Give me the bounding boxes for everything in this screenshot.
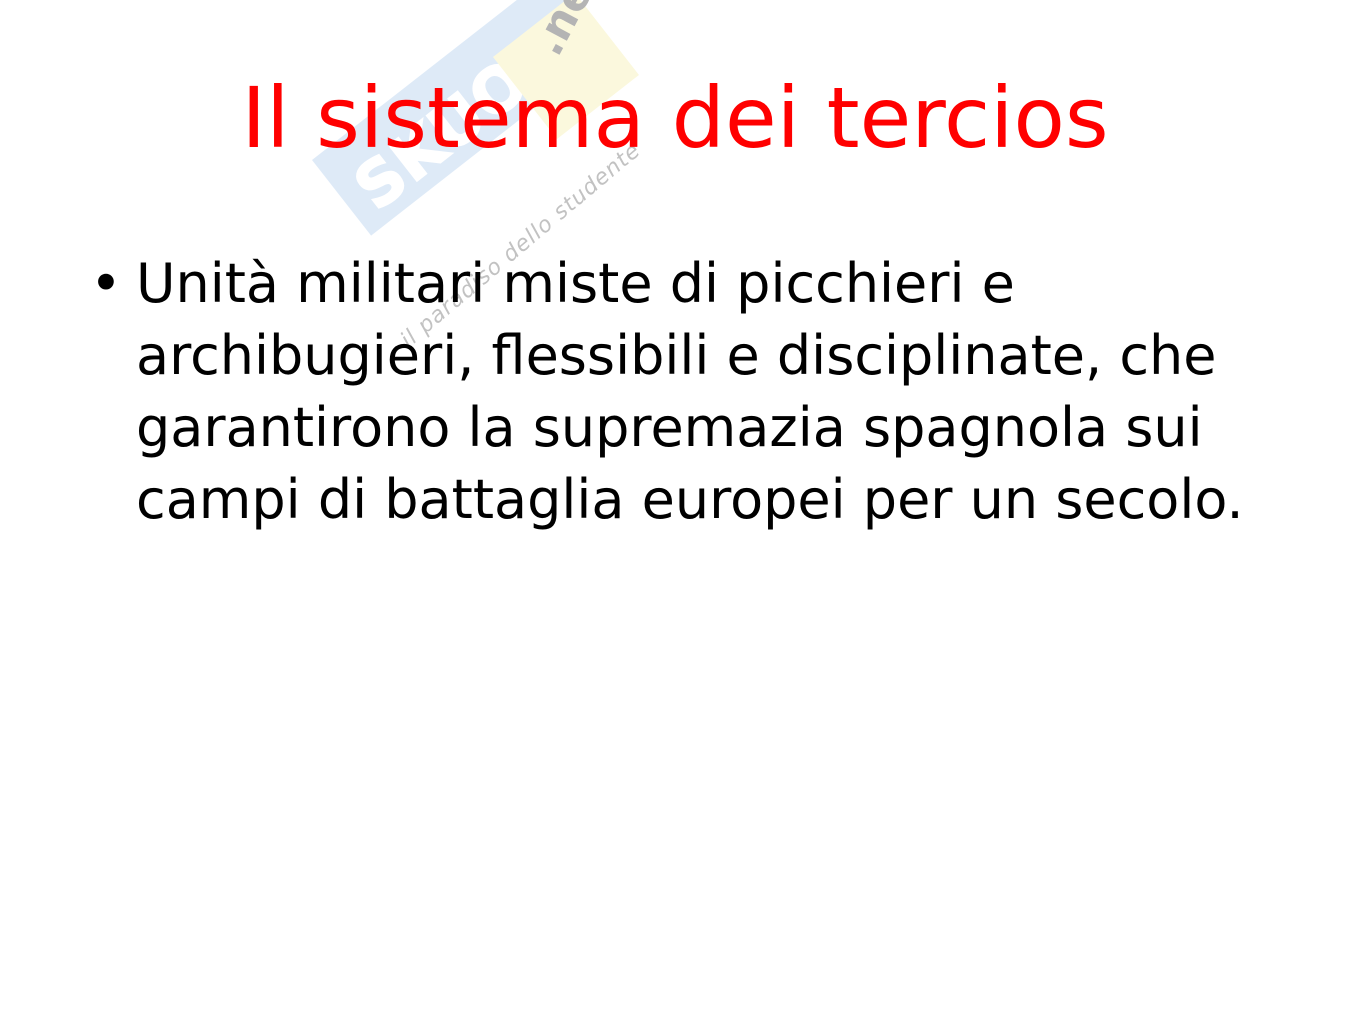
page-title: Il sistema dei tercios (0, 74, 1350, 162)
slide-body: • Unità militari miste di picchieri e ar… (78, 248, 1258, 536)
list-item-text: Unità militari miste di picchieri e arch… (136, 248, 1258, 536)
slide-canvas: SKUOLA .net il paradiso dello studente I… (0, 0, 1350, 1013)
watermark-suffix-text: .net (522, 0, 613, 64)
list-item: • Unità militari miste di picchieri e ar… (78, 248, 1258, 536)
bullet-icon: • (90, 248, 122, 320)
